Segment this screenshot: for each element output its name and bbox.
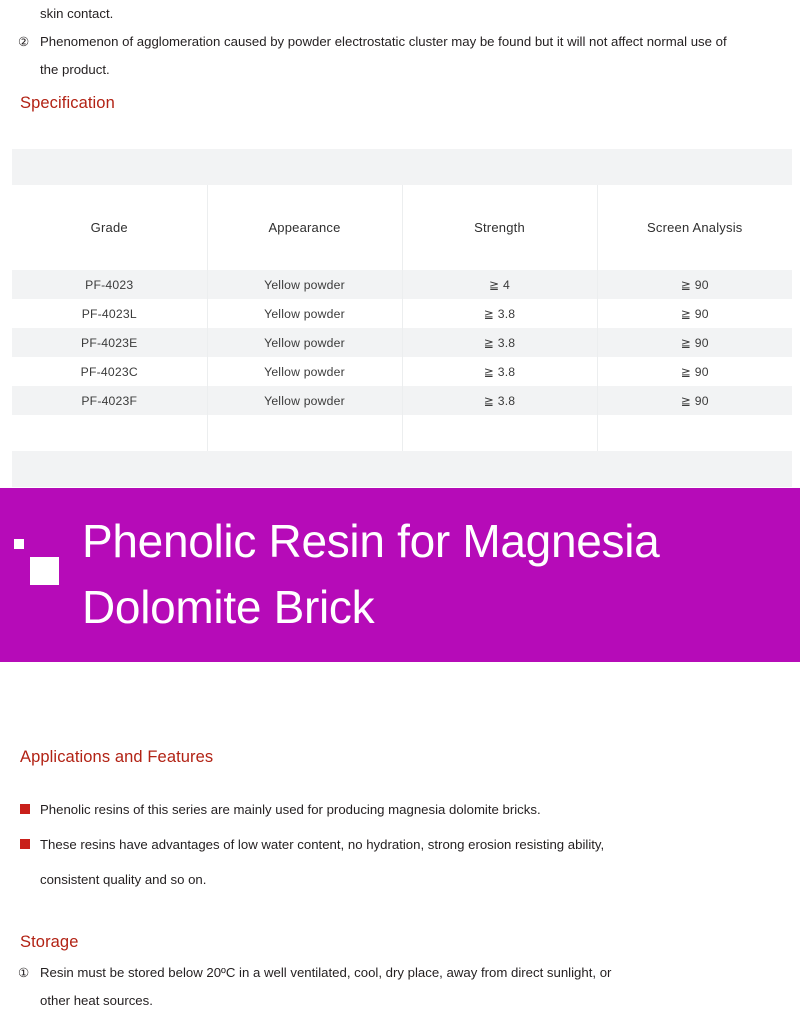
cell-strength: ≧ 4 — [402, 270, 597, 299]
cell-screen-analysis: ≧ 90 — [597, 357, 792, 386]
cell-screen-analysis: ≧ 90 — [597, 386, 792, 415]
numbered-item-line1: Phenomenon of agglomeration caused by po… — [40, 28, 800, 56]
table-row: PF-4023F Yellow powder ≧ 3.8 ≧ 90 — [12, 386, 792, 415]
numbered-item: ② Phenomenon of agglomeration caused by … — [0, 28, 800, 56]
empty-cell — [597, 415, 792, 451]
cell-grade: PF-4023F — [12, 386, 207, 415]
cell-grade: PF-4023L — [12, 299, 207, 328]
continued-text-line: skin contact. — [0, 0, 800, 28]
empty-cell — [402, 415, 597, 451]
cell-strength: ≧ 3.8 — [402, 299, 597, 328]
column-header-appearance: Appearance — [207, 185, 402, 270]
specification-table: Grade Appearance Strength Screen Analysi… — [12, 149, 792, 487]
table-top-strip-cell — [12, 149, 792, 185]
cell-strength: ≧ 3.8 — [402, 357, 597, 386]
cell-screen-analysis: ≧ 90 — [597, 270, 792, 299]
storage-item-line2: other heat sources. — [0, 987, 800, 1015]
bullet-text-line1: Phenolic resins of this series are mainl… — [40, 792, 800, 827]
cell-appearance: Yellow powder — [207, 357, 402, 386]
specification-heading: Specification — [20, 94, 115, 113]
cell-appearance: Yellow powder — [207, 386, 402, 415]
table-bottom-strip — [12, 451, 792, 487]
empty-cell — [12, 415, 207, 451]
cell-appearance: Yellow powder — [207, 270, 402, 299]
square-bullet-icon — [0, 827, 40, 849]
banner-title-line1: Phenolic Resin for Magnesia — [82, 508, 800, 574]
storage-item-line1: Resin must be stored below 20ºC in a wel… — [40, 959, 800, 987]
banner-title: Phenolic Resin for Magnesia Dolomite Bri… — [82, 508, 800, 640]
cell-grade: PF-4023 — [12, 270, 207, 299]
storage-list: ① Resin must be stored below 20ºC in a w… — [0, 959, 800, 1015]
product-banner: Phenolic Resin for Magnesia Dolomite Bri… — [0, 488, 800, 662]
list-marker-circled-two: ② — [0, 28, 40, 56]
cell-grade: PF-4023C — [12, 357, 207, 386]
numbered-item: ① Resin must be stored below 20ºC in a w… — [0, 959, 800, 987]
cell-screen-analysis: ≧ 90 — [597, 299, 792, 328]
table-row: PF-4023 Yellow powder ≧ 4 ≧ 90 — [12, 270, 792, 299]
empty-cell — [207, 415, 402, 451]
cell-appearance: Yellow powder — [207, 328, 402, 357]
list-item: These resins have advantages of low wate… — [0, 827, 800, 862]
banner-title-line2: Dolomite Brick — [82, 574, 800, 640]
list-marker-circled-one: ① — [0, 959, 40, 987]
table-empty-row — [12, 415, 792, 451]
table-bottom-strip-cell — [12, 451, 792, 487]
table-row: PF-4023L Yellow powder ≧ 3.8 ≧ 90 — [12, 299, 792, 328]
column-header-strength: Strength — [402, 185, 597, 270]
numbered-item-line2: the product. — [0, 56, 800, 84]
storage-heading: Storage — [20, 933, 79, 952]
table-top-strip — [12, 149, 792, 185]
applications-bullet-list: Phenolic resins of this series are mainl… — [0, 792, 800, 897]
cell-screen-analysis: ≧ 90 — [597, 328, 792, 357]
intro-paragraph-block: skin contact. ② Phenomenon of agglomerat… — [0, 0, 800, 84]
large-square-shape — [30, 557, 59, 585]
bullet-text-line1: These resins have advantages of low wate… — [40, 827, 800, 862]
table-header-row: Grade Appearance Strength Screen Analysi… — [12, 185, 792, 270]
cell-strength: ≧ 3.8 — [402, 386, 597, 415]
bullet-text-line2: consistent quality and so on. — [0, 862, 800, 897]
table-row: PF-4023E Yellow powder ≧ 3.8 ≧ 90 — [12, 328, 792, 357]
column-header-grade: Grade — [12, 185, 207, 270]
cell-appearance: Yellow powder — [207, 299, 402, 328]
cell-grade: PF-4023E — [12, 328, 207, 357]
small-square-shape — [14, 539, 24, 549]
table-row: PF-4023C Yellow powder ≧ 3.8 ≧ 90 — [12, 357, 792, 386]
cell-strength: ≧ 3.8 — [402, 328, 597, 357]
applications-heading: Applications and Features — [20, 748, 213, 767]
two-squares-icon — [14, 539, 62, 585]
list-item: Phenolic resins of this series are mainl… — [0, 792, 800, 827]
column-header-screen-analysis: Screen Analysis — [597, 185, 792, 270]
square-bullet-icon — [0, 792, 40, 814]
